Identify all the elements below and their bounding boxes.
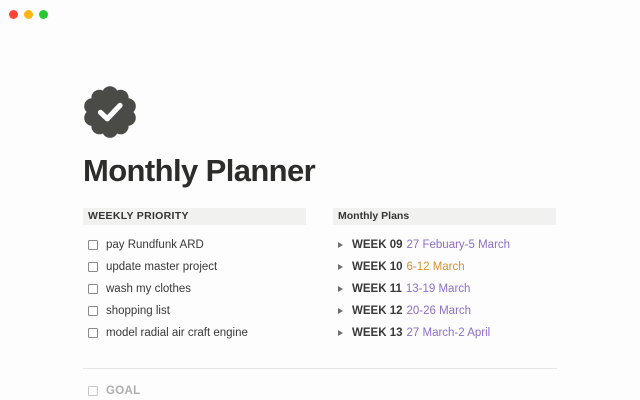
- list-item[interactable]: WEEK 11 13-19 March: [333, 278, 556, 299]
- chevron-right-icon[interactable]: [338, 330, 343, 336]
- checkbox-icon[interactable]: [88, 284, 98, 294]
- list-item-label: shopping list: [106, 305, 170, 317]
- chevron-right-icon[interactable]: [338, 308, 343, 314]
- page-title: Monthly Planner: [83, 154, 315, 188]
- chevron-right-icon[interactable]: [338, 264, 343, 270]
- week-range: 13-19 March: [406, 283, 471, 295]
- section-divider: [83, 368, 557, 369]
- weekly-priority-column: WEEKLY PRIORITY pay Rundfunk ARD update …: [83, 208, 306, 344]
- window-titlebar: [0, 0, 640, 28]
- maximize-window-button[interactable]: [39, 10, 48, 19]
- monthly-plans-header: Monthly Plans: [333, 208, 556, 225]
- checkbox-icon[interactable]: [88, 262, 98, 272]
- page-content: Monthly Planner WEEKLY PRIORITY pay Rund…: [0, 28, 640, 400]
- list-item[interactable]: WEEK 13 27 March-2 April: [333, 322, 556, 343]
- list-item[interactable]: WEEK 09 27 Febuary-5 March: [333, 234, 556, 255]
- list-item-label: update master project: [106, 261, 217, 273]
- week-range: 27 March-2 April: [407, 327, 491, 339]
- weekly-priority-list: pay Rundfunk ARD update master project w…: [83, 234, 306, 343]
- checkbox-icon[interactable]: [88, 386, 98, 396]
- list-item[interactable]: pay Rundfunk ARD: [83, 234, 306, 255]
- list-item[interactable]: update master project: [83, 256, 306, 277]
- planner-columns: WEEKLY PRIORITY pay Rundfunk ARD update …: [83, 208, 557, 344]
- traffic-light-controls: [9, 10, 48, 19]
- chevron-right-icon[interactable]: [338, 286, 343, 292]
- week-label: WEEK 11: [352, 283, 402, 295]
- verified-badge-check-icon: [84, 86, 136, 138]
- weekly-priority-header: WEEKLY PRIORITY: [83, 208, 306, 225]
- monthly-plans-column: Monthly Plans WEEK 09 27 Febuary-5 March…: [333, 208, 556, 344]
- checkbox-icon[interactable]: [88, 240, 98, 250]
- week-range: 6-12 March: [407, 261, 465, 273]
- list-item[interactable]: shopping list: [83, 300, 306, 321]
- goal-label: GOAL: [106, 385, 140, 397]
- app-window: Monthly Planner WEEKLY PRIORITY pay Rund…: [0, 0, 640, 400]
- list-item[interactable]: WEEK 12 20-26 March: [333, 300, 556, 321]
- list-item[interactable]: wash my clothes: [83, 278, 306, 299]
- week-label: WEEK 12: [352, 305, 403, 317]
- week-label: WEEK 10: [352, 261, 403, 273]
- list-item[interactable]: model radial air craft engine: [83, 322, 306, 343]
- list-item-label: model radial air craft engine: [106, 327, 248, 339]
- goal-row[interactable]: GOAL: [88, 382, 140, 400]
- week-range: 27 Febuary-5 March: [407, 239, 511, 251]
- week-label: WEEK 09: [352, 239, 403, 251]
- list-item-label: pay Rundfunk ARD: [106, 239, 204, 251]
- monthly-plans-list: WEEK 09 27 Febuary-5 March WEEK 10 6-12 …: [333, 234, 556, 343]
- checkbox-icon[interactable]: [88, 328, 98, 338]
- chevron-right-icon[interactable]: [338, 242, 343, 248]
- close-window-button[interactable]: [9, 10, 18, 19]
- week-label: WEEK 13: [352, 327, 403, 339]
- minimize-window-button[interactable]: [24, 10, 33, 19]
- checkbox-icon[interactable]: [88, 306, 98, 316]
- list-item-label: wash my clothes: [106, 283, 191, 295]
- week-range: 20-26 March: [407, 305, 472, 317]
- list-item[interactable]: WEEK 10 6-12 March: [333, 256, 556, 277]
